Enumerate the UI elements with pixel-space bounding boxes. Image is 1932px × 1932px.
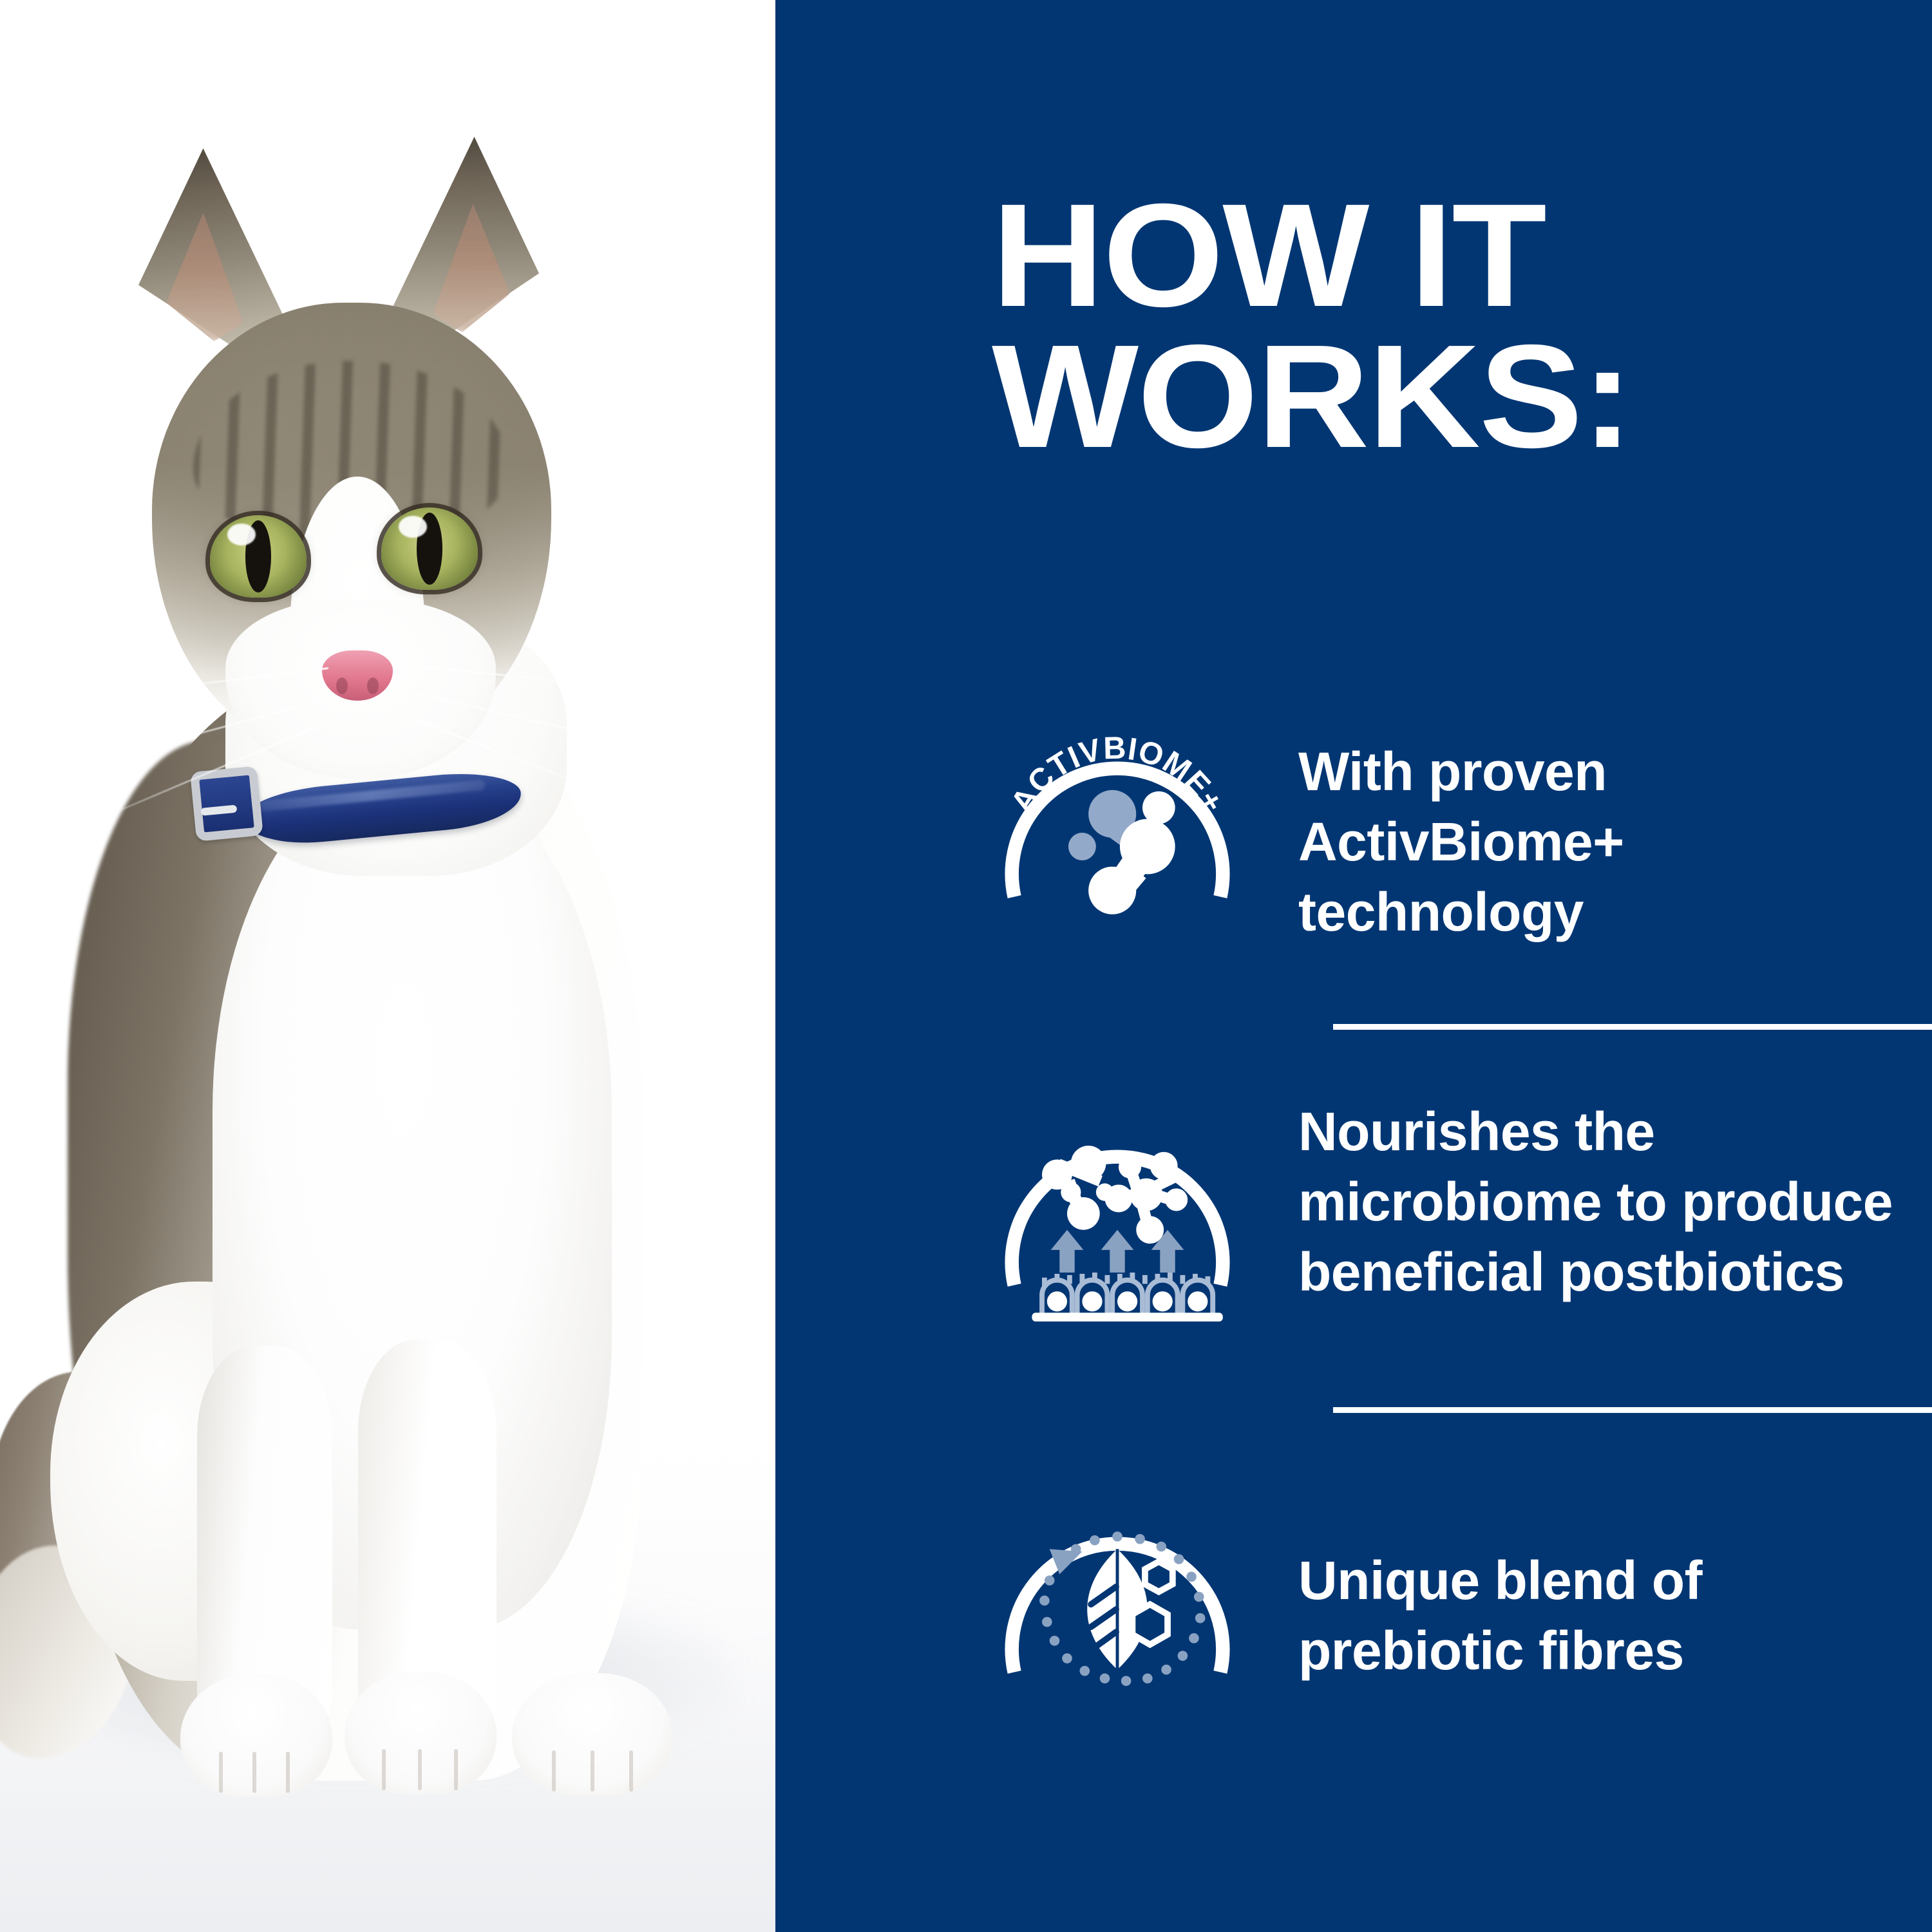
cat-paw xyxy=(512,1673,673,1795)
cat-paw xyxy=(345,1672,497,1794)
benefit-divider xyxy=(1333,1024,1932,1030)
benefit-item-activbiome: ACTIVBIOME+ W xyxy=(992,708,1906,960)
benefit-text: Unique blend of prebiotic fibres xyxy=(1298,1484,1906,1686)
page-title-line-1: HOW IT xyxy=(992,185,1920,327)
cat-collar-buckle xyxy=(190,766,263,841)
page-title-line-2: WORKS: xyxy=(992,327,1920,468)
cat-eye-left xyxy=(210,515,307,598)
content-panel: HOW IT WORKS: ACTIVBIOME+ xyxy=(775,0,1932,1932)
cat-illustration xyxy=(0,0,775,1932)
cat-photo-panel xyxy=(0,0,775,1932)
benefit-divider xyxy=(1333,1407,1932,1413)
microbiome-postbiotics-icon xyxy=(992,1097,1243,1348)
benefit-item-prebiotic-fibres: Unique blend of prebiotic fibres xyxy=(992,1484,1906,1735)
activbiome-plus-badge-icon: ACTIVBIOME+ xyxy=(992,708,1243,960)
benefit-text: With proven ActivBiome+ technology xyxy=(1298,708,1906,948)
benefits-list: ACTIVBIOME+ W xyxy=(992,708,1906,1735)
prebiotic-fibres-leaf-icon xyxy=(992,1484,1243,1735)
how-it-works-poster: HOW IT WORKS: ACTIVBIOME+ xyxy=(0,0,1932,1932)
page-title: HOW IT WORKS: xyxy=(992,185,1920,468)
benefit-item-microbiome: Nourishes the microbiome to produce bene… xyxy=(992,1097,1906,1348)
benefit-text: Nourishes the microbiome to produce bene… xyxy=(1298,1097,1906,1308)
cat-paw xyxy=(180,1674,332,1797)
cat-eye-right xyxy=(381,507,478,590)
